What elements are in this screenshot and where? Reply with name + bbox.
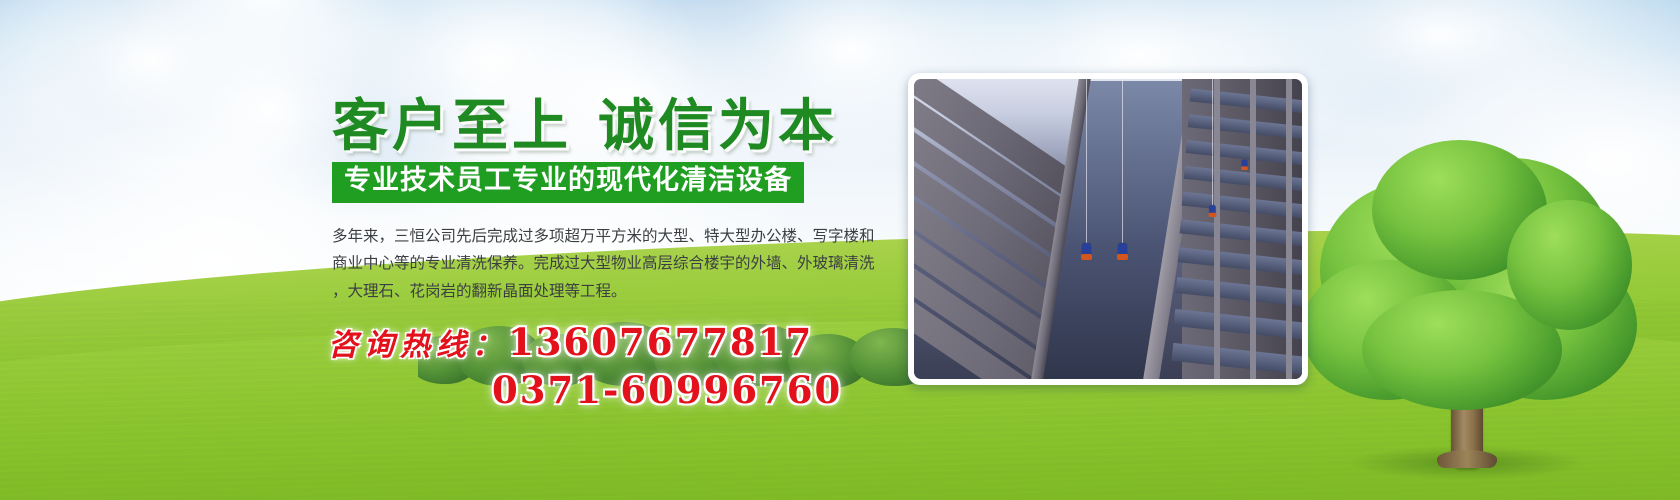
hotline-landline-number[interactable]: 0371-60996760	[492, 368, 842, 412]
subtitle-bar: 专业技术员工专业的现代化清洁设备	[332, 162, 804, 202]
window-cleaner-worker	[1082, 243, 1091, 257]
paragraph-line-3: ，大理石、花岗岩的翻新晶面处理等工程。	[332, 278, 892, 306]
headline-part2: 诚信为本	[598, 93, 838, 159]
paragraph-line-1: 多年来，三恒公司先后完成过多项超万平方米的大型、特大型办公楼、写字楼和	[332, 223, 892, 251]
hotline-mobile-number[interactable]: 13607677817	[508, 320, 813, 364]
description-paragraph: 多年来，三恒公司先后完成过多项超万平方米的大型、特大型办公楼、写字楼和 商业中心…	[332, 223, 892, 306]
building-photo	[914, 79, 1302, 379]
rope	[1086, 79, 1087, 247]
promo-banner: 客户至上诚信为本 专业技术员工专业的现代化清洁设备 多年来，三恒公司先后完成过多…	[0, 0, 1680, 500]
window-cleaner-worker	[1118, 243, 1127, 257]
tree-illustration	[1302, 140, 1632, 470]
rope	[1212, 79, 1213, 207]
rope	[1122, 79, 1123, 247]
window-cleaner-worker	[1242, 160, 1247, 168]
hotline-row-primary: 咨询热线：13607677817	[328, 320, 813, 364]
hotline-label: 咨询热线：	[328, 328, 508, 363]
copy-block: 客户至上诚信为本 专业技术员工专业的现代化清洁设备 多年来，三恒公司先后完成过多…	[318, 96, 898, 306]
paragraph-line-2: 商业中心等的专业清洗保养。完成过大型物业高层综合楼宇的外墙、外玻璃清洗	[332, 250, 892, 278]
hotline-row-secondary: 0371-60996760	[492, 368, 842, 412]
building-photo-frame	[908, 73, 1308, 385]
headline-part1: 客户至上	[332, 93, 572, 159]
page-title: 客户至上诚信为本	[332, 96, 898, 156]
window-cleaner-worker	[1209, 205, 1215, 215]
